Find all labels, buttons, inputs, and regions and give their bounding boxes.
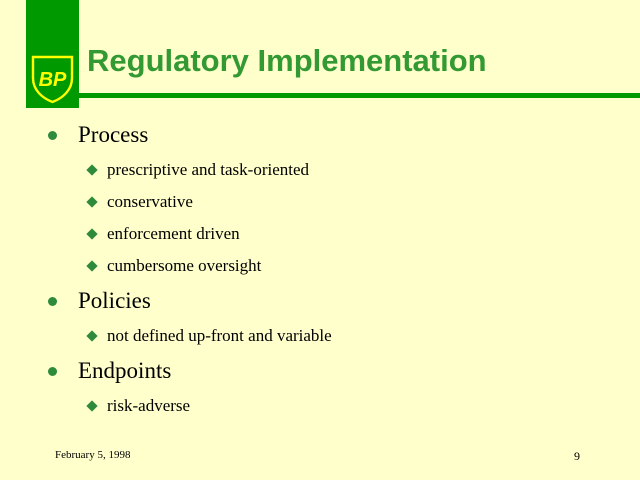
bullet-level1-label: Policies xyxy=(78,288,151,313)
presentation-slide: BP Regulatory Implementation Process pre… xyxy=(0,0,640,480)
bullet-level1-label: Process xyxy=(78,122,148,147)
bp-shield-icon: BP xyxy=(29,52,76,104)
bullet-diamond-icon xyxy=(86,164,97,175)
slide-body: Process prescriptive and task-oriented c… xyxy=(0,118,640,422)
bullet-level2-label: cumbersome oversight xyxy=(107,256,261,275)
bullet-level2-item: not defined up-front and variable xyxy=(0,320,640,352)
bullet-level2-item: conservative xyxy=(0,186,640,218)
footer-page-number: 9 xyxy=(574,449,580,464)
footer-date: February 5, 1998 xyxy=(55,449,130,461)
bullet-level1-endpoints: Endpoints xyxy=(0,354,640,387)
bullet-level2-label: not defined up-front and variable xyxy=(107,326,332,345)
bullet-level2-label: enforcement driven xyxy=(107,224,240,243)
bullet-diamond-icon xyxy=(86,260,97,271)
bullet-diamond-icon xyxy=(86,196,97,207)
bullet-level2-item: risk-adverse xyxy=(0,390,640,422)
bp-logo-text: BP xyxy=(39,69,67,91)
title-underline-rule xyxy=(79,93,640,98)
bullet-dot-icon xyxy=(48,367,57,376)
bullet-level2-item: prescriptive and task-oriented xyxy=(0,154,640,186)
bullet-diamond-icon xyxy=(86,330,97,341)
bullet-level2-label: conservative xyxy=(107,192,193,211)
bullet-dot-icon xyxy=(48,131,57,140)
bullet-level2-item: cumbersome oversight xyxy=(0,250,640,282)
bullet-diamond-icon xyxy=(86,400,97,411)
bullet-level2-label: risk-adverse xyxy=(107,396,190,415)
bp-logo-block: BP xyxy=(26,0,79,108)
bullet-level1-policies: Policies xyxy=(0,284,640,317)
bullet-level2-label: prescriptive and task-oriented xyxy=(107,160,309,179)
bullet-level2-item: enforcement driven xyxy=(0,218,640,250)
page-title: Regulatory Implementation xyxy=(87,45,487,76)
bullet-level1-process: Process xyxy=(0,118,640,151)
bullet-dot-icon xyxy=(48,297,57,306)
bullet-level1-label: Endpoints xyxy=(78,358,171,383)
bullet-diamond-icon xyxy=(86,228,97,239)
